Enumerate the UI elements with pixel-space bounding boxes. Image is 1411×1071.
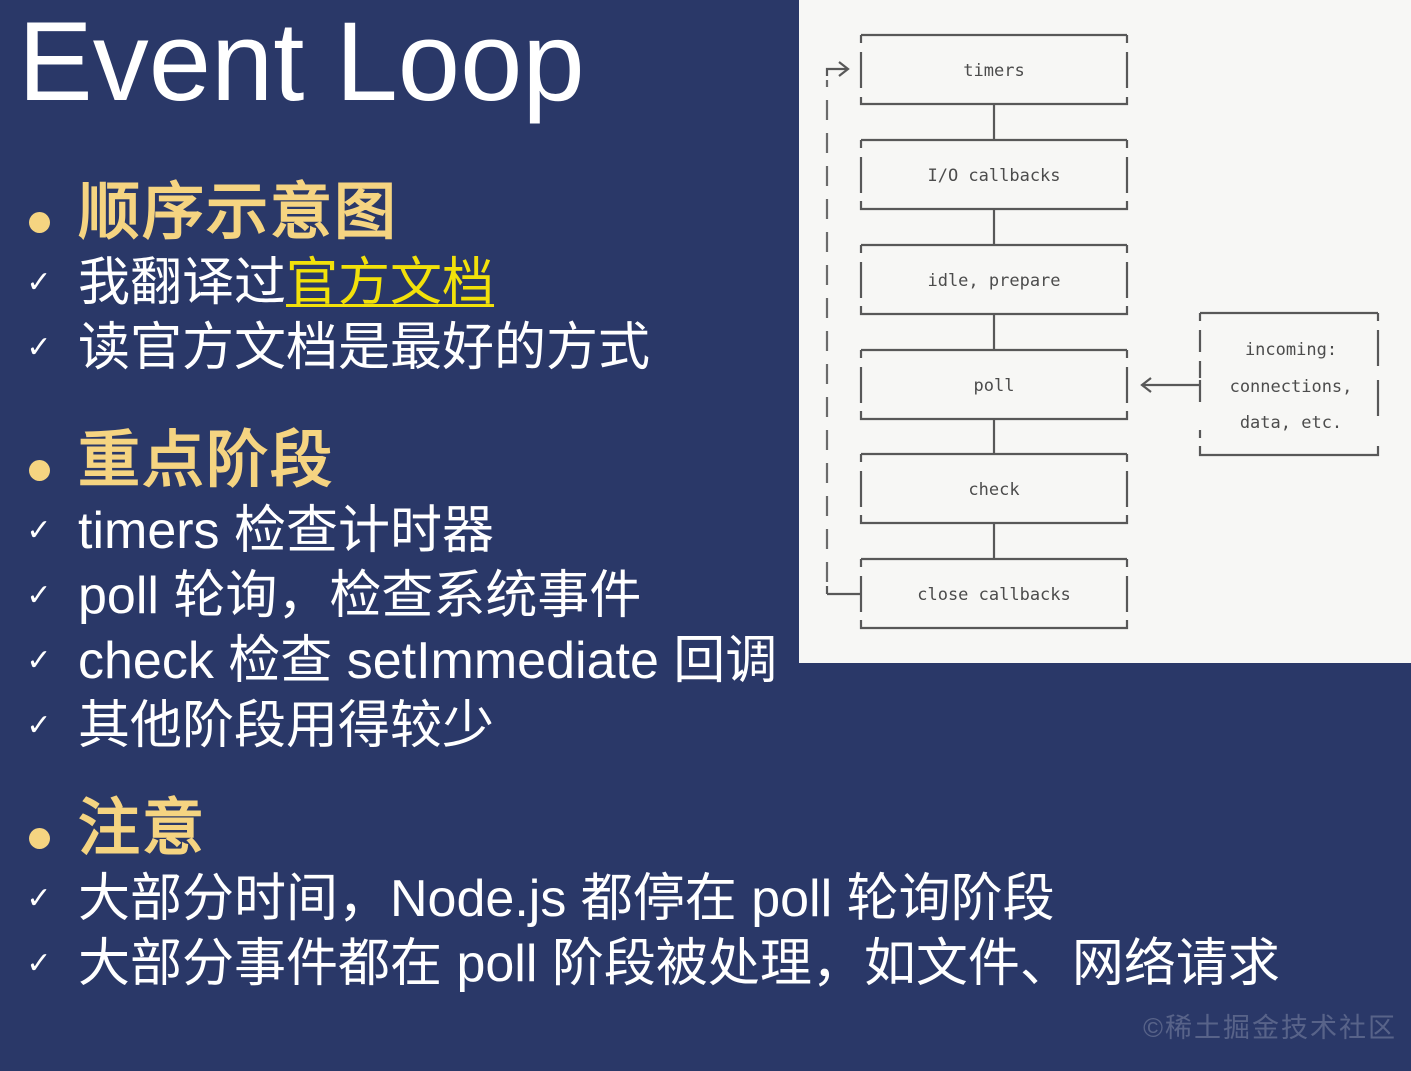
page-title: Event Loop: [18, 6, 585, 118]
side-box-line-2: connections,: [1230, 377, 1353, 397]
bullet-heading-label: 注意: [78, 794, 206, 863]
phase-label-timers: timers: [963, 61, 1024, 81]
list-item-label: poll 轮询，检查系统事件: [78, 565, 641, 628]
check-icon: ✓: [0, 695, 78, 741]
list-item: ✓ check 检查 setImmediate 回调: [0, 630, 810, 695]
bullet-block-3: 注意 ✓ 大部分时间，Node.js 都停在 poll 轮询阶段 ✓ 大部分事件…: [0, 794, 810, 998]
phase-box-io-callbacks: I/O callbacks: [861, 140, 1127, 209]
phase-box-check: check: [861, 454, 1127, 523]
list-item-label: 我翻译过官方文档: [78, 252, 494, 315]
bullet-dot: [0, 426, 78, 481]
bullet-dot: [0, 178, 78, 233]
bullet-heading-label: 顺序示意图: [78, 178, 398, 247]
list-item: ✓ timers 检查计时器: [0, 500, 810, 565]
bullet-heading-2: 重点阶段: [0, 426, 810, 500]
dot-icon: [29, 828, 50, 849]
check-icon: ✓: [0, 565, 78, 611]
phase-label-io-callbacks: I/O callbacks: [927, 166, 1060, 186]
dot-icon: [29, 460, 50, 481]
spacer: [0, 382, 810, 426]
loop-back-path: [827, 62, 861, 594]
phase-label-close-callbacks: close callbacks: [917, 585, 1071, 605]
spacer: [0, 760, 810, 794]
check-icon: ✓: [0, 868, 78, 914]
phase-label-idle-prepare: idle, prepare: [927, 271, 1060, 291]
list-item: ✓ poll 轮询，检查系统事件: [0, 565, 810, 630]
check-icon: ✓: [0, 317, 78, 363]
official-docs-link[interactable]: 官方文档: [286, 254, 494, 312]
diagram-svg: timers I/O callbacks idle, prepare: [799, 0, 1411, 663]
check-icon: ✓: [0, 252, 78, 298]
list-item-label: 其他阶段用得较少: [78, 695, 494, 758]
phase-label-poll: poll: [974, 376, 1015, 396]
bullet-heading-1: 顺序示意图: [0, 178, 810, 252]
phase-box-timers: timers: [861, 35, 1127, 104]
list-item-label: check 检查 setImmediate 回调: [78, 630, 777, 693]
dot-icon: [29, 212, 50, 233]
phase-label-check: check: [968, 480, 1019, 500]
check-icon: ✓: [0, 630, 78, 676]
bullet-content: 顺序示意图 ✓ 我翻译过官方文档 ✓ 读官方文档是最好的方式 重点阶段 ✓ ti…: [0, 178, 810, 998]
list-item-label: 大部分事件都在 poll 阶段被处理，如文件、网络请求: [78, 933, 1280, 996]
event-loop-diagram: timers I/O callbacks idle, prepare: [799, 0, 1411, 663]
list-item: ✓ 大部分事件都在 poll 阶段被处理，如文件、网络请求: [0, 933, 810, 998]
list-item: ✓ 大部分时间，Node.js 都停在 poll 轮询阶段: [0, 868, 810, 933]
list-item-text: 我翻译过: [78, 254, 286, 312]
bullet-heading-label: 重点阶段: [78, 426, 334, 495]
list-item-label: 大部分时间，Node.js 都停在 poll 轮询阶段: [78, 868, 1055, 931]
bullet-block-1: 顺序示意图 ✓ 我翻译过官方文档 ✓ 读官方文档是最好的方式: [0, 178, 810, 382]
list-item-label: 读官方文档是最好的方式: [78, 317, 650, 380]
phase-box-idle-prepare: idle, prepare: [861, 245, 1127, 314]
phase-box-close-callbacks: close callbacks: [861, 559, 1127, 628]
list-item: ✓ 读官方文档是最好的方式: [0, 317, 810, 382]
side-box-incoming: incoming: connections, data, etc.: [1142, 313, 1378, 455]
list-item: ✓ 其他阶段用得较少: [0, 695, 810, 760]
side-box-line-3: data, etc.: [1240, 413, 1342, 433]
list-item-label: timers 检查计时器: [78, 500, 494, 563]
side-box-line-1: incoming:: [1245, 340, 1337, 360]
bullet-block-2: 重点阶段 ✓ timers 检查计时器 ✓ poll 轮询，检查系统事件 ✓ c…: [0, 426, 810, 760]
slide-root: Event Loop 顺序示意图 ✓ 我翻译过官方文档 ✓ 读官方文档是最好的方…: [0, 0, 1411, 1071]
check-icon: ✓: [0, 500, 78, 546]
check-icon: ✓: [0, 933, 78, 979]
phase-box-poll: poll: [861, 350, 1127, 419]
bullet-heading-3: 注意: [0, 794, 810, 868]
list-item: ✓ 我翻译过官方文档: [0, 252, 810, 317]
watermark: ©稀土掘金技术社区: [1143, 1006, 1397, 1045]
bullet-dot: [0, 794, 78, 849]
